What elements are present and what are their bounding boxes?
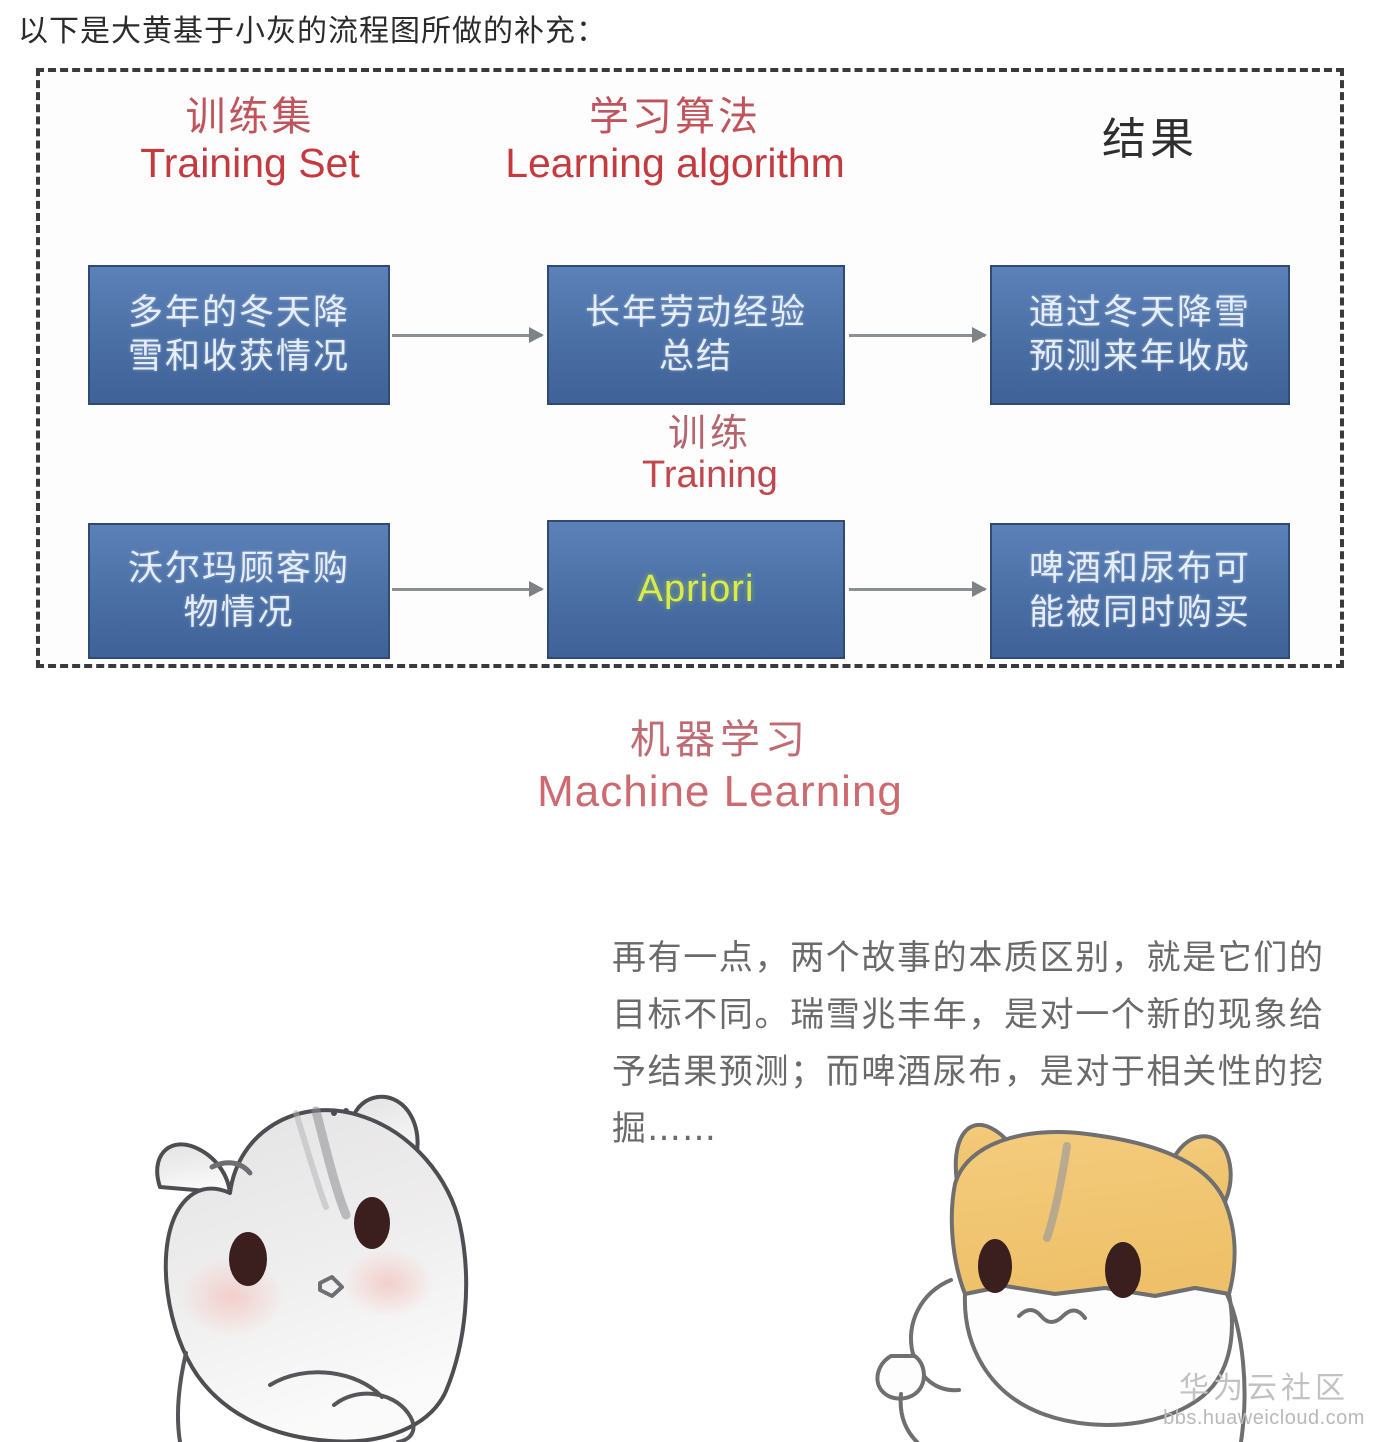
gray-hamster-head-dot-2	[343, 1108, 349, 1114]
intro-text: 以下是大黄基于小灰的流程图所做的补充：	[18, 6, 607, 50]
arrow-right-icon	[392, 588, 542, 591]
column-header-training-set-en: Training Set	[110, 141, 390, 185]
gray-hamster-right-eye	[354, 1197, 390, 1249]
gray-hamster-right-cheek	[342, 1249, 434, 1317]
process-box-line-1: 通过冬天降雪	[1029, 291, 1251, 335]
process-box-line-2: 物情况	[128, 591, 350, 635]
process-box-line-2: 雪和收获情况	[128, 335, 350, 379]
training-label: 训练 Training	[560, 414, 860, 496]
machine-learning-caption-en: Machine Learning	[440, 768, 1000, 816]
process-box-line-1: 多年的冬天降	[128, 291, 350, 335]
gray-hamster-illustration	[120, 1075, 580, 1442]
orange-hamster-muzzle	[965, 1286, 1232, 1425]
process-box-line-1: 沃尔玛顾客购	[128, 547, 350, 591]
process-box-result-harvest-prediction: 通过冬天降雪 预测来年收成	[990, 265, 1290, 405]
column-header-training-set-cn: 训练集	[110, 96, 390, 139]
process-box-training-data-walmart: 沃尔玛顾客购 物情况	[88, 523, 390, 659]
column-header-learning-algorithm: 学习算法 Learning algorithm	[445, 96, 905, 185]
column-header-learning-algorithm-en: Learning algorithm	[445, 141, 905, 185]
process-box-line-1: 长年劳动经验	[585, 291, 807, 335]
gray-hamster-body-edge	[178, 1353, 186, 1442]
process-box-line-2: 总结	[585, 335, 807, 379]
process-box-algorithm-experience: 长年劳动经验 总结	[547, 265, 845, 405]
process-box-line-2: 能被同时购买	[1029, 591, 1251, 635]
process-box-result-beer-diaper: 啤酒和尿布可 能被同时购买	[990, 523, 1290, 659]
column-header-result-cn: 结果	[1040, 116, 1260, 164]
column-header-learning-algorithm-cn: 学习算法	[445, 96, 905, 139]
process-box-line-1: Apriori	[638, 566, 755, 614]
process-box-line-1: 啤酒和尿布可	[1029, 547, 1251, 591]
arrow-right-icon	[849, 334, 985, 337]
orange-hamster-left-eye	[978, 1239, 1012, 1293]
gray-hamster-left-ear	[157, 1144, 230, 1193]
orange-hamster-right-eye	[1105, 1242, 1141, 1298]
gray-hamster-left-eye	[229, 1232, 267, 1286]
machine-learning-caption-cn: 机器学习	[440, 718, 1000, 762]
training-label-cn: 训练	[560, 414, 860, 454]
arrow-right-icon	[849, 588, 985, 591]
gray-hamster-head-dot-1	[331, 1110, 337, 1116]
column-header-training-set: 训练集 Training Set	[110, 96, 390, 185]
orange-hamster-body-edge	[901, 1394, 917, 1442]
orange-hamster-illustration	[855, 1098, 1275, 1442]
process-box-algorithm-apriori: Apriori	[547, 520, 845, 659]
process-box-line-2: 预测来年收成	[1029, 335, 1251, 379]
machine-learning-caption: 机器学习 Machine Learning	[440, 718, 1000, 816]
column-header-result: 结果	[1040, 116, 1260, 164]
process-box-training-data-weather: 多年的冬天降 雪和收获情况	[88, 265, 390, 405]
training-label-en: Training	[560, 456, 860, 496]
arrow-right-icon	[392, 334, 542, 337]
